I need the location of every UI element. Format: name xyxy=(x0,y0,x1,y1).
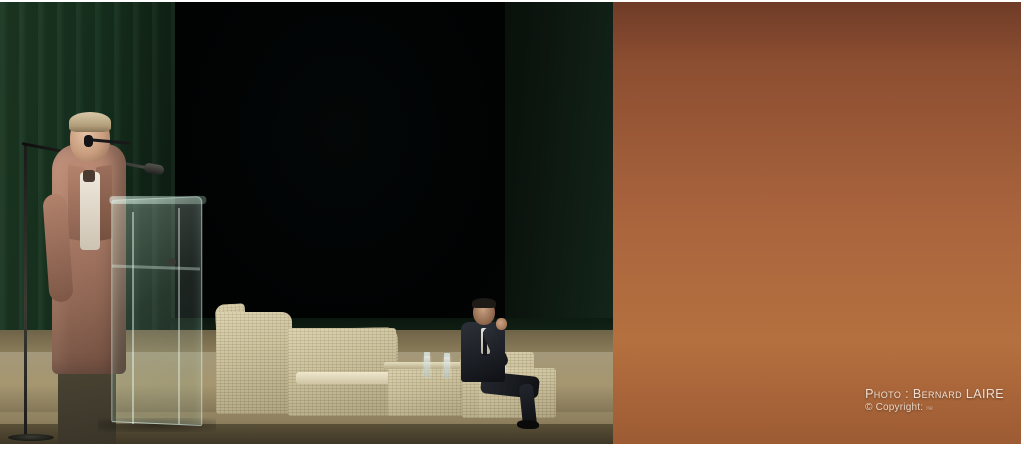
projection-wall: MAN FROM ATLANTIS L'homme n'est pas un m… xyxy=(613,0,1024,449)
photo-credit-tiny: ne xyxy=(926,406,933,412)
top-margin xyxy=(0,0,1024,2)
seated-moderator xyxy=(455,300,555,430)
lectern-strut xyxy=(132,212,134,424)
speaker-legs xyxy=(58,364,116,444)
water-bottle-cap xyxy=(444,353,450,357)
auditorium-photograph xyxy=(0,0,613,444)
seated-shoe xyxy=(517,420,539,429)
water-bottle-cap xyxy=(424,352,430,356)
acrylic-lectern xyxy=(111,196,202,426)
lectern-strut xyxy=(178,208,180,424)
water-bottle xyxy=(424,355,430,377)
speaker-tie-knot xyxy=(83,170,95,182)
seated-hair xyxy=(472,298,496,308)
dark-backdrop xyxy=(175,0,505,330)
speaker-shirt xyxy=(80,172,100,250)
sofa-cushion xyxy=(296,372,396,384)
armchair-left xyxy=(216,312,292,414)
seated-hand xyxy=(496,318,507,330)
microphone-base xyxy=(8,434,54,441)
screenshot-root: MAN FROM ATLANTIS L'homme n'est pas un m… xyxy=(0,0,1024,449)
photo-credit-line-2: © Copyright:ne xyxy=(865,402,1004,413)
lectern-top-edge xyxy=(109,196,206,204)
photo-credit-line-1: Photo : Bernard LAIRE xyxy=(865,387,1004,401)
microphone-stand xyxy=(24,143,27,439)
photo-credit: Photo : Bernard LAIRE © Copyright:ne xyxy=(865,387,1004,413)
photo-credit-copyright: © Copyright: xyxy=(865,402,923,413)
headset-earpad xyxy=(84,135,93,147)
bottom-margin xyxy=(0,444,1024,449)
speaker-hair xyxy=(69,112,111,132)
lectern-knob xyxy=(168,258,176,266)
water-bottle xyxy=(444,356,450,378)
microphone-icon xyxy=(143,162,164,175)
speaker-at-lectern xyxy=(28,112,208,442)
